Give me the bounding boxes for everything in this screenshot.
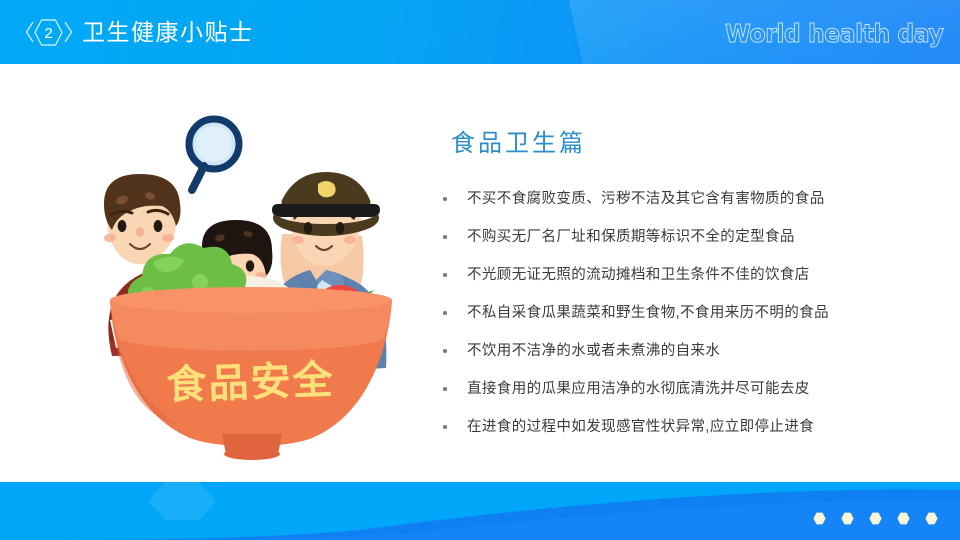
step-badge-hexagon: 2 bbox=[34, 19, 63, 46]
pagination-dots[interactable] bbox=[813, 512, 938, 525]
list-item: 不光顾无证无照的流动摊档和卫生条件不佳的饮食店 bbox=[440, 256, 910, 294]
list-item: 不私自采食瓜果蔬菜和野生食物,不食用来历不明的食品 bbox=[440, 294, 910, 332]
food-bowl: 食品安全 bbox=[110, 287, 392, 460]
list-item: 直接食用的瓜果应用洁净的水彻底清洗并尽可能去皮 bbox=[440, 370, 910, 408]
step-badge-number: 2 bbox=[44, 25, 52, 42]
list-item: 不购买无厂名厂址和保质期等标识不全的定型食品 bbox=[440, 218, 910, 256]
pagination-dot[interactable] bbox=[813, 512, 826, 525]
chevron-left-icon bbox=[25, 21, 34, 43]
pagination-dot[interactable] bbox=[869, 512, 882, 525]
section-title: 食品卫生篇 bbox=[451, 128, 910, 160]
tips-list: 不买不食腐败变质、污秽不洁及其它含有害物质的食品 不购买无厂名厂址和保质期等标识… bbox=[440, 180, 910, 446]
pagination-dot[interactable] bbox=[925, 512, 938, 525]
bowl-label: 食品安全 bbox=[166, 357, 335, 408]
content-panel: 食品卫生篇 不买不食腐败变质、污秽不洁及其它含有害物质的食品 不购买无厂名厂址和… bbox=[440, 128, 910, 446]
chevron-right-icon bbox=[64, 21, 73, 43]
pagination-dot[interactable] bbox=[897, 512, 910, 525]
footer-hexagon-decor bbox=[148, 482, 216, 520]
list-item: 在进食的过程中如发现感官性状异常,应立即停止进食 bbox=[440, 408, 910, 446]
brand-wordmark: World health day bbox=[725, 20, 943, 47]
list-item: 不饮用不洁净的水或者未煮沸的自来水 bbox=[440, 332, 910, 370]
slide-footer bbox=[0, 482, 960, 540]
slide-header: 2 卫生健康小贴士 World health day bbox=[0, 0, 960, 64]
pagination-dot[interactable] bbox=[841, 512, 854, 525]
page-title: 卫生健康小贴士 bbox=[82, 18, 254, 46]
slide: 2 卫生健康小贴士 World health day bbox=[0, 0, 960, 540]
list-item: 不买不食腐败变质、污秽不洁及其它含有害物质的食品 bbox=[440, 180, 910, 218]
footer-wave bbox=[0, 482, 960, 540]
food-safety-illustration: 食品安全 bbox=[96, 104, 406, 464]
magnifier-icon bbox=[189, 119, 239, 190]
